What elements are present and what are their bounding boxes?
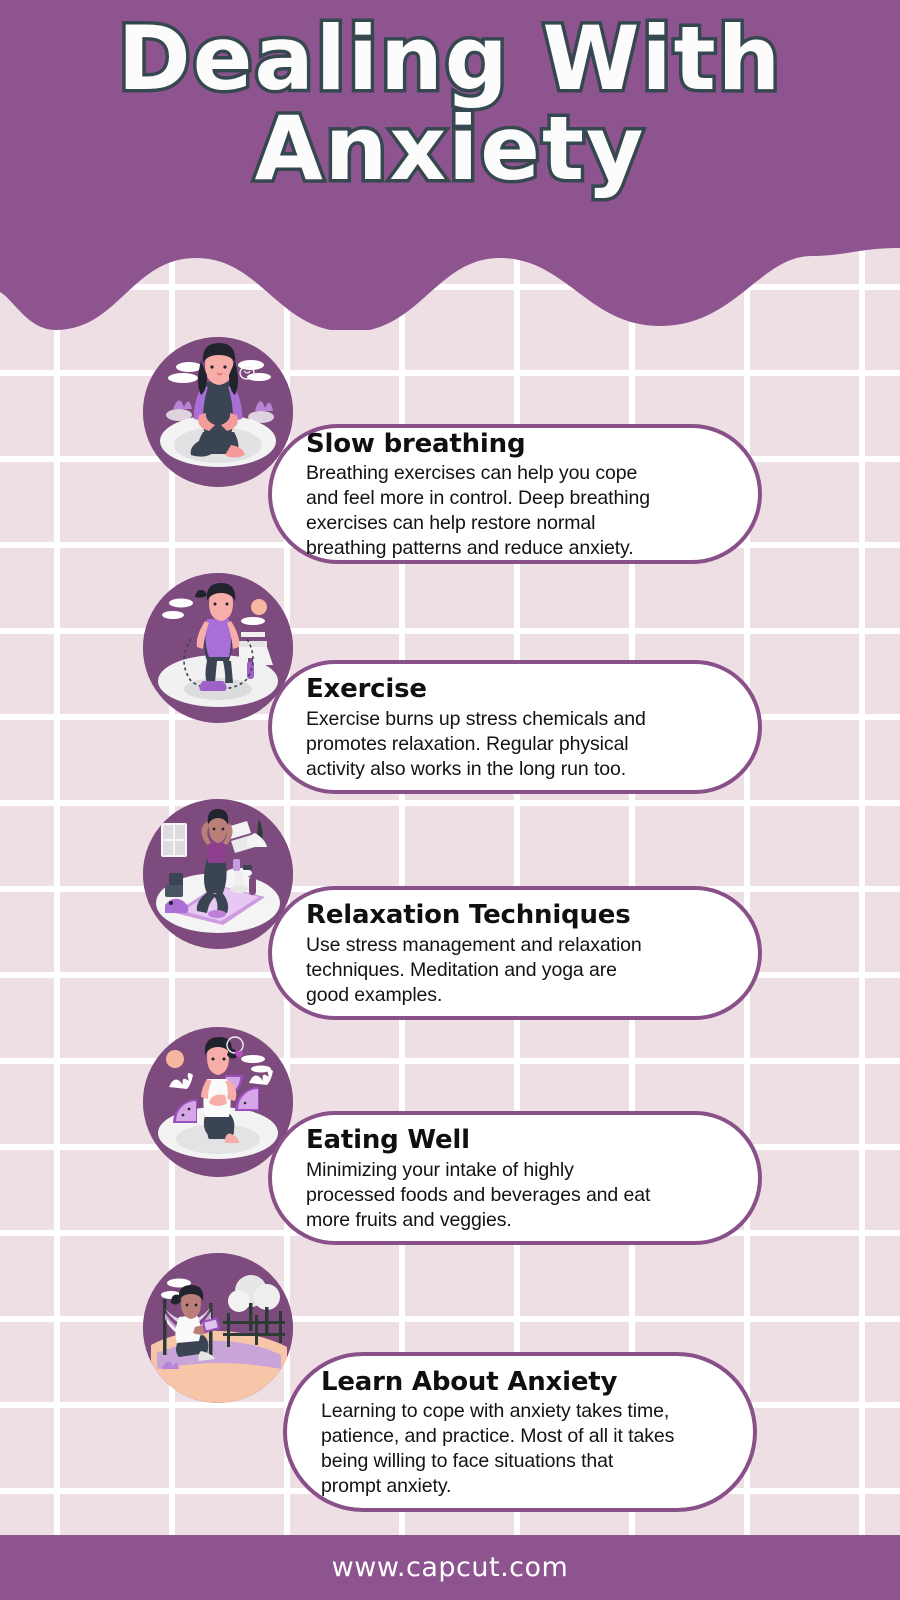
tip-illustration-2 [143, 573, 293, 723]
title-line-1: Dealing With [0, 14, 900, 104]
tip-card-2[interactable]: Exercise Exercise burns up stress chemic… [268, 660, 762, 794]
footer-bar: www.capcut.com [0, 1535, 900, 1600]
tip-card-5[interactable]: Learn About Anxiety Learning to cope wit… [283, 1352, 757, 1512]
woman-reading-hammock-icon [143, 1253, 293, 1403]
tip-title-1: Slow breathing [306, 429, 724, 460]
tip-illustration-4 [143, 1027, 293, 1177]
poster-title: Dealing With Anxiety [0, 14, 900, 194]
tip-body-5: Learning to cope with anxiety takes time… [321, 1399, 719, 1499]
title-line-2: Anxiety [0, 104, 900, 194]
woman-jumping-rope-icon [143, 573, 293, 723]
footer-url-text[interactable]: www.capcut.com [332, 1552, 569, 1583]
tip-illustration-5 [143, 1253, 293, 1403]
tip-title-5: Learn About Anxiety [321, 1367, 719, 1398]
tip-title-3: Relaxation Techniques [306, 900, 724, 931]
woman-meditating-breathing-icon [143, 337, 293, 487]
tip-card-3[interactable]: Relaxation Techniques Use stress managem… [268, 886, 762, 1020]
tip-illustration-1 [143, 337, 293, 487]
tip-illustration-3 [143, 799, 293, 949]
tip-body-3: Use stress management and relaxation tec… [306, 933, 724, 1008]
tip-title-2: Exercise [306, 674, 724, 705]
tip-title-4: Eating Well [306, 1125, 724, 1156]
tip-body-2: Exercise burns up stress chemicals and p… [306, 707, 724, 782]
infographic-poster: Dealing With Anxiety [0, 0, 900, 1600]
tip-card-1[interactable]: Slow breathing Breathing exercises can h… [268, 424, 762, 564]
tip-body-4: Minimizing your intake of highly process… [306, 1158, 724, 1233]
woman-eating-watermelon-icon [143, 1027, 293, 1177]
tip-body-1: Breathing exercises can help you cope an… [306, 461, 724, 561]
header-banner: Dealing With Anxiety [0, 0, 900, 330]
tip-card-4[interactable]: Eating Well Minimizing your intake of hi… [268, 1111, 762, 1245]
woman-yoga-pose-icon [143, 799, 293, 949]
